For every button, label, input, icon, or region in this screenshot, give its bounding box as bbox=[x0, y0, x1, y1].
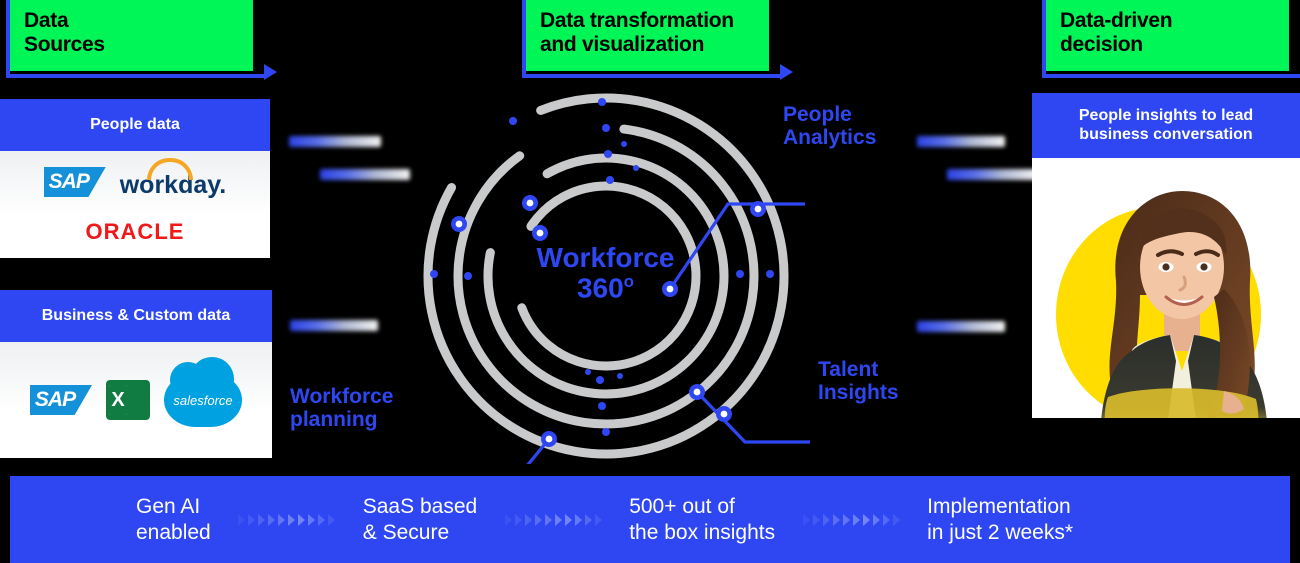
feature-bar: Gen AI enabled SaaS based & Secure 500+ … bbox=[10, 476, 1290, 563]
chevron-separator-icon bbox=[239, 513, 335, 527]
blurred-label-placeholder bbox=[917, 136, 1005, 147]
workday-logo: workday. bbox=[120, 165, 227, 200]
decision-panel: People insights to lead business convers… bbox=[1032, 93, 1300, 418]
blurred-label-placeholder bbox=[917, 321, 1005, 332]
stage-left-rule bbox=[6, 0, 10, 78]
stage-bottom-rule bbox=[10, 74, 267, 78]
source-card-title: Business & Custom data bbox=[0, 290, 272, 342]
logo-row: SAP workday. ORACLE bbox=[0, 151, 270, 258]
stage-header-data-sources: Data Sources bbox=[10, 0, 253, 71]
sap-logo: SAP bbox=[30, 385, 92, 415]
chevron-separator-icon bbox=[803, 513, 899, 527]
source-card-people-data: People data SAP workday. ORACLE bbox=[0, 99, 270, 258]
blurred-label-placeholder bbox=[947, 169, 1037, 180]
stage-label: Data Sources bbox=[24, 9, 105, 56]
blurred-label-placeholder bbox=[290, 320, 378, 331]
feature-implementation: Implementation in just 2 weeks* bbox=[927, 494, 1073, 544]
chevron-separator-icon bbox=[505, 513, 601, 527]
source-card-title: People data bbox=[0, 99, 270, 151]
stage-header-decision: Data-driven decision bbox=[1046, 0, 1289, 71]
feature-saas-secure: SaaS based & Secure bbox=[363, 494, 477, 544]
stage-bottom-rule bbox=[1046, 74, 1300, 78]
excel-logo: X bbox=[106, 380, 150, 420]
decision-panel-photo bbox=[1032, 185, 1300, 418]
arrow-right-icon bbox=[253, 62, 277, 80]
blurred-label-placeholder bbox=[320, 169, 410, 180]
stage-left-rule bbox=[1042, 0, 1046, 78]
stage-label: Data transformation and visualization bbox=[540, 9, 734, 56]
stage-label: Data-driven decision bbox=[1060, 9, 1172, 56]
decision-panel-title: People insights to lead business convers… bbox=[1032, 93, 1300, 158]
arrow-right-icon bbox=[769, 62, 793, 80]
stage-bottom-rule bbox=[526, 74, 783, 78]
stage-header-transformation: Data transformation and visualization bbox=[526, 0, 769, 71]
arrow-right-icon bbox=[1289, 62, 1300, 80]
feature-gen-ai: Gen AI enabled bbox=[136, 494, 211, 544]
sap-logo: SAP bbox=[44, 167, 106, 197]
radial-label-talent-insights: Talent Insights bbox=[818, 358, 899, 404]
businesswoman-portrait-icon bbox=[1074, 185, 1290, 418]
feature-out-of-box: 500+ out of the box insights bbox=[629, 494, 775, 544]
logo-row: SAP X salesforce bbox=[0, 342, 272, 458]
radial-label-people-analytics: People Analytics bbox=[783, 103, 876, 149]
blurred-label-placeholder bbox=[289, 136, 381, 147]
stage-left-rule bbox=[522, 0, 526, 78]
workday-arc-icon bbox=[147, 158, 193, 180]
oracle-logo: ORACLE bbox=[12, 219, 258, 245]
salesforce-logo: salesforce bbox=[164, 373, 242, 427]
radial-label-workforce-planning: Workforce planning bbox=[290, 385, 393, 431]
source-card-business-data: Business & Custom data SAP X salesforce bbox=[0, 290, 272, 458]
radial-center-title: Workforce 360o bbox=[498, 243, 713, 304]
